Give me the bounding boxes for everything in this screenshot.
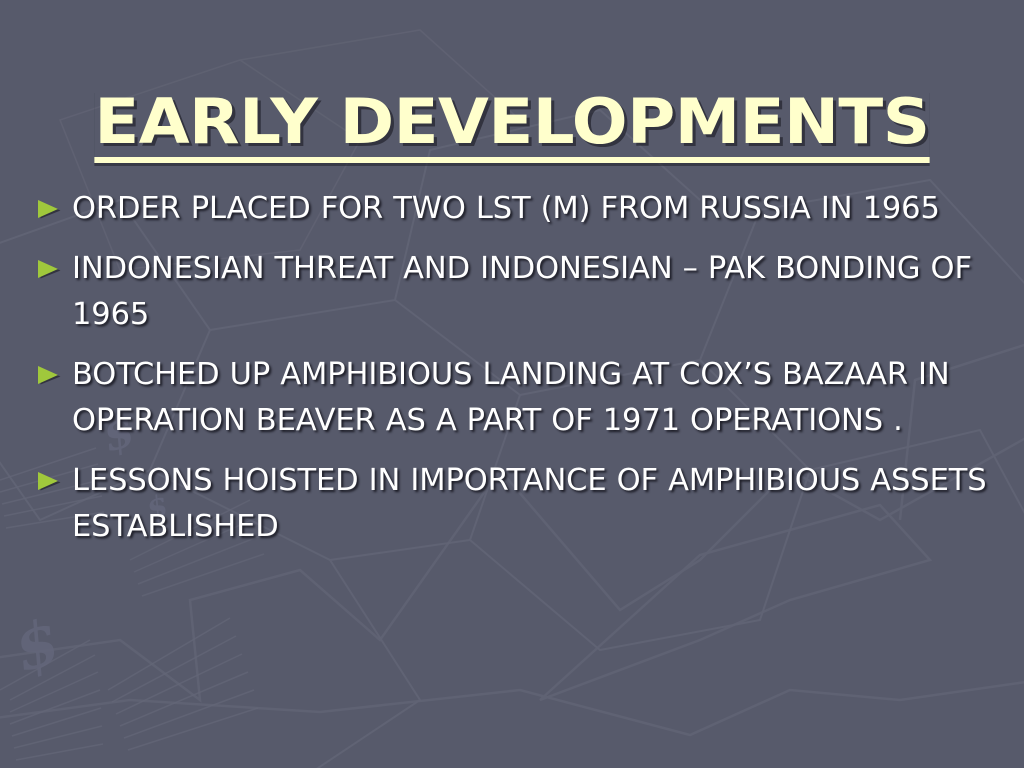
bullet-list: ORDER PLACED FOR TWO LST (M) FROM RUSSIA…: [38, 186, 990, 564]
list-item-label: LESSONS HOISTED IN IMPORTANCE OF AMPHIBI…: [72, 458, 990, 550]
list-item: ORDER PLACED FOR TWO LST (M) FROM RUSSIA…: [38, 186, 990, 232]
list-item-label: INDONESIAN THREAT AND INDONESIAN – PAK B…: [72, 246, 990, 338]
list-item-label: BOTCHED UP AMPHIBIOUS LANDING AT COX’S B…: [72, 352, 990, 444]
triangle-right-icon: [38, 246, 72, 281]
presentation-slide: $ $ $ EARLY DEVELOPMENTS ORDER PLACED FO…: [0, 0, 1024, 768]
title-area: EARLY DEVELOPMENTS: [0, 48, 1024, 204]
page-title: EARLY DEVELOPMENTS: [94, 90, 929, 163]
list-item-label: ORDER PLACED FOR TWO LST (M) FROM RUSSIA…: [72, 186, 990, 232]
triangle-right-icon: [38, 458, 72, 493]
list-item: INDONESIAN THREAT AND INDONESIAN – PAK B…: [38, 246, 990, 338]
triangle-right-icon: [38, 186, 72, 221]
list-item: LESSONS HOISTED IN IMPORTANCE OF AMPHIBI…: [38, 458, 990, 550]
svg-text:$: $: [6, 604, 68, 686]
list-item: BOTCHED UP AMPHIBIOUS LANDING AT COX’S B…: [38, 352, 990, 444]
triangle-right-icon: [38, 352, 72, 387]
